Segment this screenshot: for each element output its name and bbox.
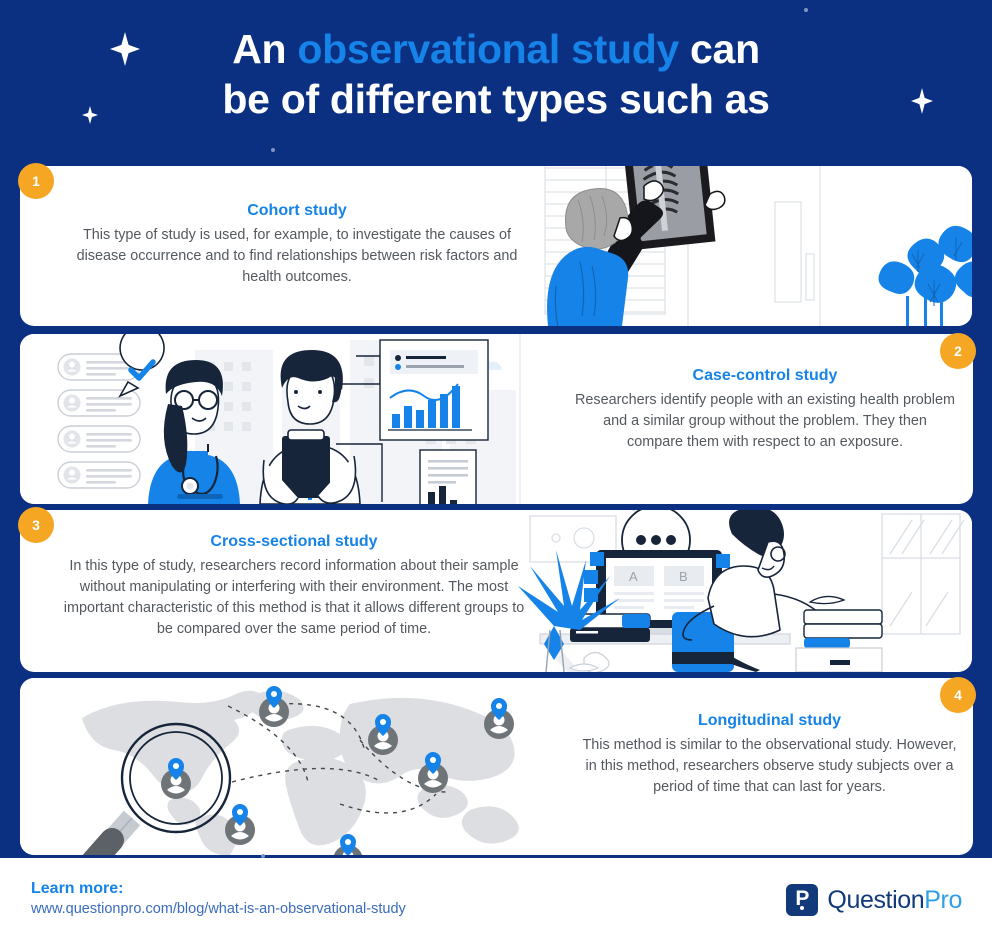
world-map-with-magnifier-and-location-pins-illustration [20, 678, 580, 855]
step-badge-3-number: 3 [32, 517, 40, 533]
doctor-examining-xray-illustration [520, 166, 972, 326]
card-longitudinal-study[interactable]: Longitudinal study This method is simila… [20, 678, 973, 855]
card-body-cross-sectional: In this type of study, researchers recor… [56, 556, 532, 640]
step-badge-4-number: 4 [954, 687, 962, 703]
card-title-cross-sectional: Cross-sectional study [56, 533, 532, 551]
researcher-at-desk-with-computer-illustration: A B [510, 510, 972, 672]
two-medical-professionals-with-charts-illustration [20, 334, 530, 504]
title-text-part2: can [679, 26, 760, 72]
page-title: An observational study can be of differe… [0, 24, 992, 124]
card-body-case-control: Researchers identify people with an exis… [575, 390, 955, 453]
title-text-line2: be of different types such as [0, 74, 992, 124]
wordmark-question: Question [827, 886, 924, 914]
title-text-part1: An [232, 26, 297, 72]
questionpro-logo-mark-icon: P [786, 884, 818, 916]
wordmark-pro: Pro [924, 886, 962, 914]
learn-more-url-link[interactable]: www.questionpro.com/blog/what-is-an-obse… [31, 901, 406, 917]
step-badge-1: 1 [18, 163, 54, 199]
logo-dot [800, 906, 804, 910]
step-badge-2-number: 2 [954, 343, 962, 359]
questionpro-wordmark: QuestionPro [827, 886, 962, 915]
step-badge-1-number: 1 [32, 173, 40, 189]
learn-more-label: Learn more: [31, 880, 123, 898]
step-badge-3: 3 [18, 507, 54, 543]
card-body-longitudinal: This method is similar to the observatio… [582, 735, 957, 798]
card-text-cohort: Cohort study This type of study is used,… [76, 202, 518, 288]
card-text-longitudinal: Longitudinal study This method is simila… [582, 712, 957, 798]
header: An observational study can be of differe… [0, 0, 992, 160]
questionpro-logo[interactable]: P QuestionPro [786, 884, 962, 916]
step-badge-2: 2 [940, 333, 976, 369]
card-title-case-control: Case-control study [575, 367, 955, 385]
card-title-longitudinal: Longitudinal study [582, 712, 957, 730]
card-cross-sectional-study[interactable]: A B [20, 510, 972, 672]
card-text-cross-sectional: Cross-sectional study In this type of st… [56, 533, 532, 640]
step-badge-4: 4 [940, 677, 976, 713]
footer: Learn more: www.questionpro.com/blog/wha… [0, 858, 992, 929]
card-cohort-study[interactable]: Cohort study This type of study is used,… [20, 166, 972, 326]
card-title-cohort: Cohort study [76, 202, 518, 220]
infographic-poster: An observational study can be of differe… [0, 0, 992, 929]
title-text-accent: observational study [297, 26, 679, 72]
svg-text:B: B [679, 569, 688, 584]
decorative-dot-mid [271, 148, 275, 152]
decorative-dot-top [804, 8, 808, 12]
logo-letter-p: P [786, 884, 818, 916]
card-text-case-control: Case-control study Researchers identify … [575, 367, 955, 453]
card-case-control-study[interactable]: Case-control study Researchers identify … [20, 334, 973, 504]
svg-text:A: A [629, 569, 638, 584]
card-body-cohort: This type of study is used, for example,… [76, 225, 518, 288]
